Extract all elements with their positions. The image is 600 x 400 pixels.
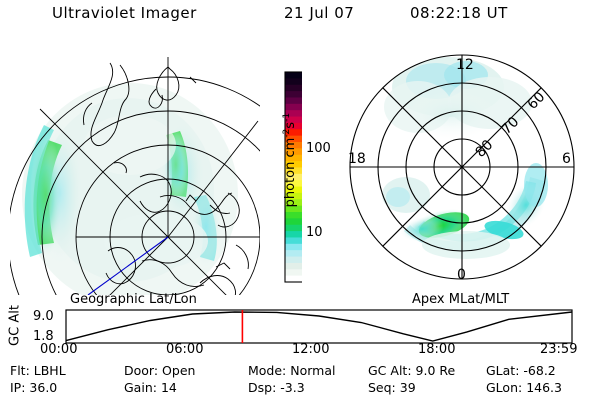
time-tick-0: 00:00 bbox=[40, 342, 77, 357]
status-panel: Flt: LBHL IP: 36.0 Door: Open Gain: 14 M… bbox=[0, 363, 600, 400]
gc-alt-axis-label: GC Alt bbox=[8, 302, 23, 350]
status-ip: IP: 36.0 bbox=[10, 380, 57, 395]
geographic-map-panel[interactable] bbox=[10, 45, 260, 295]
status-glat-label: GLat: bbox=[486, 363, 519, 378]
status-glon: GLon: 146.3 bbox=[486, 380, 562, 395]
status-door-value: Open bbox=[162, 363, 195, 378]
colorbar-label-mid: s bbox=[283, 122, 298, 129]
apex-polar-svg: 12 6 18 0 60 70 80 bbox=[340, 45, 590, 295]
header: Ultraviolet Imager 21 Jul 07 08:22:18 UT bbox=[0, 4, 600, 28]
status-gcalt: GC Alt: 9.0 Re bbox=[368, 363, 455, 378]
status-seq: Seq: 39 bbox=[368, 380, 416, 395]
mlt-label-6: 6 bbox=[562, 151, 571, 167]
mlt-spokes bbox=[350, 55, 574, 279]
colorbar-label-exp1: -2 bbox=[282, 129, 292, 138]
apex-mlat-mlt-panel[interactable]: 12 6 18 0 60 70 80 bbox=[340, 45, 590, 295]
status-flt-label: Flt: bbox=[10, 363, 30, 378]
mlt-label-0: 0 bbox=[457, 267, 466, 283]
geographic-map-svg bbox=[10, 45, 260, 295]
header-date: 21 Jul 07 bbox=[284, 4, 354, 22]
colorbar-label-main: photon cm bbox=[283, 138, 298, 208]
time-tick-2: 12:00 bbox=[292, 342, 329, 357]
status-gain: Gain: 14 bbox=[124, 380, 177, 395]
apex-aurora-layer bbox=[382, 57, 553, 259]
gc-alt-tick-max: 9.0 bbox=[33, 309, 54, 324]
status-ip-label: IP: bbox=[10, 380, 25, 395]
status-door-label: Door: bbox=[124, 363, 158, 378]
colorbar-axis-label: photon cm-2s-1 bbox=[282, 80, 298, 240]
status-flt: Flt: LBHL bbox=[10, 363, 66, 378]
status-glat-value: -68.2 bbox=[523, 363, 555, 378]
status-seq-label: Seq: bbox=[368, 380, 396, 395]
status-dsp-value: -3.3 bbox=[280, 380, 314, 395]
status-mode: Mode: Normal bbox=[248, 363, 336, 378]
colorbar-tick-10: 10 bbox=[306, 225, 323, 240]
page-title: Ultraviolet Imager bbox=[52, 4, 197, 22]
status-glat: GLat: -68.2 bbox=[486, 363, 556, 378]
status-dsp-label: Dsp: bbox=[248, 380, 276, 395]
colorbar-label-exp2: -1 bbox=[282, 113, 292, 122]
status-gcalt-value: 9.0 Re bbox=[416, 363, 456, 378]
time-tick-1: 06:00 bbox=[166, 342, 203, 357]
timeline-frame bbox=[66, 310, 572, 343]
status-seq-value: 39 bbox=[400, 380, 416, 395]
status-gcalt-label: GC Alt: bbox=[368, 363, 412, 378]
altitude-curve bbox=[66, 312, 572, 341]
status-ip-value: 36.0 bbox=[29, 380, 57, 395]
geographic-panel-caption: Geographic Lat/Lon bbox=[70, 292, 197, 307]
status-flt-value: LBHL bbox=[34, 363, 66, 378]
mlt-label-18: 18 bbox=[348, 151, 366, 167]
status-dsp: Dsp: -3.3 bbox=[248, 380, 314, 395]
orbit-timeline[interactable]: Geographic Lat/Lon Apex MLat/MLT GC Alt … bbox=[0, 292, 600, 358]
colorbar-group: photon cm-2s-1 100 10 bbox=[258, 60, 338, 295]
mlat-label-80: 80 bbox=[473, 137, 497, 161]
status-mode-value: Normal bbox=[290, 363, 335, 378]
apex-panel-caption: Apex MLat/MLT bbox=[412, 292, 509, 307]
status-gain-value: 14 bbox=[161, 380, 177, 395]
status-mode-label: Mode: bbox=[248, 363, 286, 378]
time-tick-4: 23:59 bbox=[540, 342, 577, 357]
time-tick-3: 18:00 bbox=[418, 342, 455, 357]
uvi-display: Ultraviolet Imager 21 Jul 07 08:22:18 UT bbox=[0, 0, 600, 400]
status-glon-label: GLon: bbox=[486, 380, 522, 395]
status-gain-label: Gain: bbox=[124, 380, 157, 395]
status-glon-value: 146.3 bbox=[526, 380, 562, 395]
header-time: 08:22:18 UT bbox=[410, 4, 508, 22]
mlt-label-12: 12 bbox=[456, 57, 474, 73]
status-door: Door: Open bbox=[124, 363, 195, 378]
colorbar-tick-100: 100 bbox=[306, 141, 331, 156]
